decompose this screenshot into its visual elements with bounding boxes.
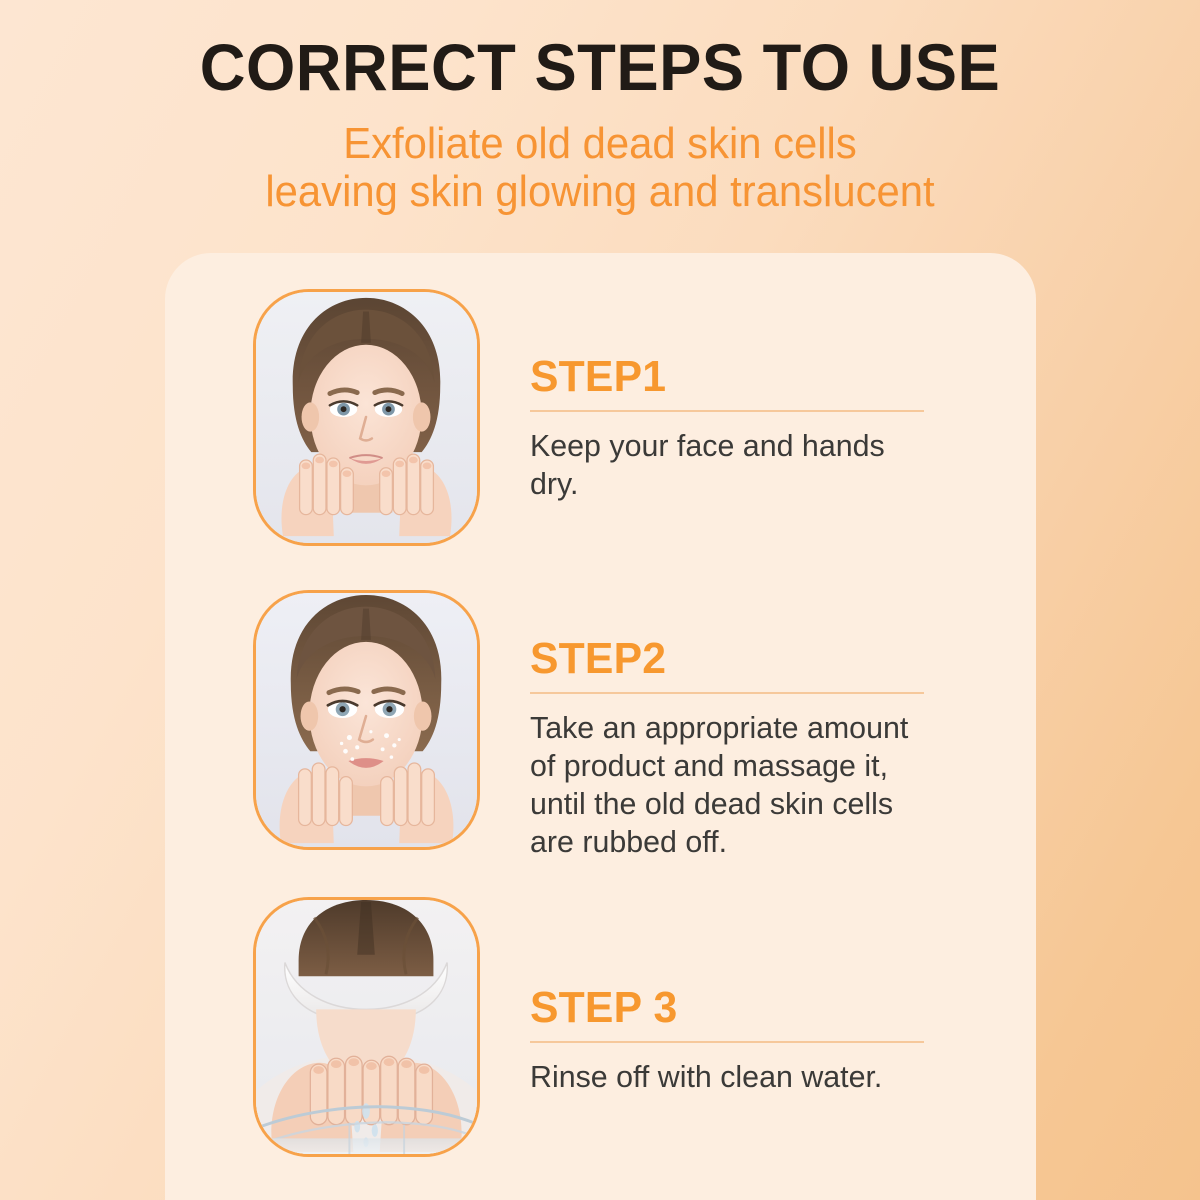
step-3-body: Rinse off with clean water. [530,1043,1008,1096]
step-2-label: STEP2 [530,635,1003,683]
step-item: STEP1 Keep your face and hands dry. [165,289,1036,546]
step-1-label: STEP1 [530,353,1003,401]
step-3-photo [253,897,480,1157]
woman-rinsing-face-icon [256,900,477,1154]
step-3-label: STEP 3 [530,984,1003,1032]
subtitle-line-2: leaving skin glowing and translucent [30,168,1170,216]
step-1-text: STEP1 Keep your face and hands dry. [480,289,1036,503]
subtitle-line-1: Exfoliate old dead skin cells [30,120,1170,168]
woman-touching-dry-face-icon [256,292,477,543]
woman-massaging-product-icon [256,593,477,847]
step-1-body: Keep your face and hands dry. [530,412,1008,503]
step-2-photo [253,590,480,850]
step-1-photo [253,289,480,546]
step-3-text: STEP 3 Rinse off with clean water. [480,897,1036,1096]
step-item: STEP 3 Rinse off with clean water. [165,897,1036,1157]
header: CORRECT STEPS TO USE Exfoliate old dead … [0,0,1200,216]
steps-panel: STEP1 Keep your face and hands dry. [165,253,1036,1200]
page-title: CORRECT STEPS TO USE [24,0,1176,104]
infographic-canvas: CORRECT STEPS TO USE Exfoliate old dead … [0,0,1200,1200]
step-2-text: STEP2 Take an appropriate amount of prod… [480,590,1036,861]
page-subtitle: Exfoliate old dead skin cells leaving sk… [30,104,1170,216]
step-2-body: Take an appropriate amount of product an… [530,694,1008,861]
step-item: STEP2 Take an appropriate amount of prod… [165,590,1036,861]
